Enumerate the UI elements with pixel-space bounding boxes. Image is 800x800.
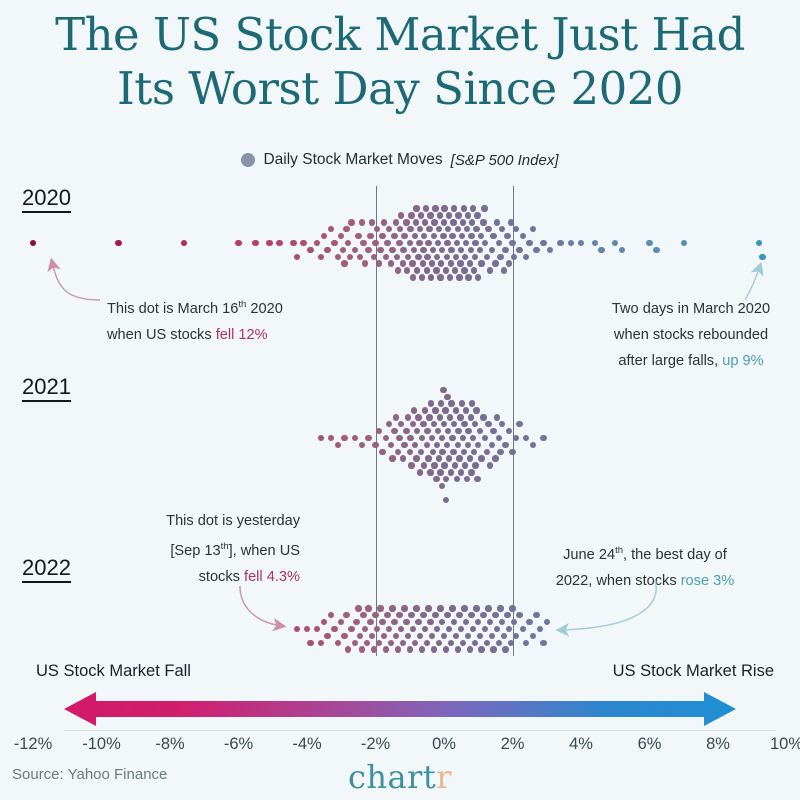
data-dot bbox=[410, 274, 416, 280]
data-dot bbox=[533, 612, 539, 618]
data-dot bbox=[502, 646, 508, 652]
data-dot bbox=[501, 633, 507, 639]
data-dot bbox=[388, 260, 394, 266]
data-dot bbox=[340, 247, 346, 253]
axis-tick-neg6pct: -6% bbox=[224, 735, 253, 754]
data-dot bbox=[379, 619, 385, 625]
data-dot bbox=[462, 462, 468, 468]
annotation-march-2020-rebound: Two days in March 2020 when stocks rebou… bbox=[596, 296, 786, 374]
data-dot bbox=[449, 233, 455, 239]
data-dot bbox=[490, 233, 496, 239]
data-dot bbox=[441, 633, 447, 639]
data-dot bbox=[520, 233, 526, 239]
axis-tick-6pct: 6% bbox=[638, 735, 662, 754]
data-dot bbox=[345, 240, 351, 246]
annotation-march-16-2020: This dot is March 16th 2020 when US stoc… bbox=[107, 292, 283, 348]
data-dot bbox=[415, 414, 421, 420]
data-dot bbox=[509, 449, 515, 455]
data-dot bbox=[423, 205, 429, 211]
data-dot bbox=[448, 247, 454, 253]
data-dot bbox=[446, 626, 452, 632]
data-dot bbox=[407, 240, 413, 246]
data-dot bbox=[506, 626, 512, 632]
data-dot bbox=[398, 421, 404, 427]
data-dot bbox=[413, 455, 419, 461]
data-dot bbox=[455, 226, 461, 232]
data-dot bbox=[502, 442, 508, 448]
data-dot bbox=[372, 240, 378, 246]
data-dot bbox=[455, 212, 461, 218]
data-dot bbox=[497, 254, 503, 260]
data-dot bbox=[513, 226, 519, 232]
data-dot bbox=[511, 619, 517, 625]
data-dot bbox=[376, 640, 382, 646]
data-dot bbox=[494, 626, 500, 632]
data-dot bbox=[405, 414, 411, 420]
data-dot bbox=[439, 483, 445, 489]
data-dot bbox=[473, 605, 479, 611]
data-dot bbox=[338, 619, 344, 625]
data-dot bbox=[335, 640, 341, 646]
data-dot bbox=[396, 612, 402, 618]
data-dot bbox=[181, 240, 187, 246]
data-dot bbox=[314, 626, 320, 632]
data-dot bbox=[452, 267, 458, 273]
data-dot bbox=[396, 240, 402, 246]
data-dot bbox=[457, 260, 463, 266]
data-dot bbox=[408, 462, 414, 468]
data-dot bbox=[400, 260, 406, 266]
data-dot bbox=[391, 619, 397, 625]
annotation-highlight: up 9% bbox=[722, 353, 763, 369]
data-dot bbox=[508, 219, 514, 225]
data-dot bbox=[523, 435, 529, 441]
data-dot bbox=[443, 497, 449, 503]
data-dot bbox=[492, 612, 498, 618]
annotation-line: stocks fell 4.3% bbox=[140, 564, 300, 590]
data-dot bbox=[433, 267, 439, 273]
data-dot bbox=[400, 640, 406, 646]
data-dot bbox=[460, 640, 466, 646]
data-dot bbox=[290, 240, 296, 246]
axis-tick-4pct: 4% bbox=[569, 735, 593, 754]
annotation-highlight: fell 4.3% bbox=[244, 569, 300, 585]
data-dot bbox=[412, 442, 418, 448]
data-dot bbox=[468, 612, 474, 618]
chartr-logo-accent: r bbox=[436, 758, 452, 796]
data-dot bbox=[294, 254, 300, 260]
year-label-2021: 2021 bbox=[22, 375, 71, 402]
data-dot bbox=[395, 267, 401, 273]
data-dot bbox=[383, 254, 389, 260]
data-dot bbox=[516, 421, 522, 427]
data-dot bbox=[438, 260, 444, 266]
data-dot bbox=[472, 640, 478, 646]
annotation-line: This dot is yesterday bbox=[140, 508, 300, 534]
data-dot bbox=[318, 254, 324, 260]
data-dot bbox=[362, 260, 368, 266]
data-dot bbox=[477, 428, 483, 434]
year-label-2022: 2022 bbox=[22, 556, 71, 583]
legend-sublabel: [S&P 500 Index] bbox=[451, 152, 559, 169]
data-dot bbox=[430, 449, 436, 455]
legend: Daily Stock Market Moves [S&P 500 Index] bbox=[0, 151, 800, 169]
annotation-line: when stocks rebounded bbox=[596, 322, 786, 348]
data-dot bbox=[400, 247, 406, 253]
data-dot bbox=[504, 233, 510, 239]
data-dot bbox=[407, 646, 413, 652]
data-dot bbox=[459, 233, 465, 239]
data-dot bbox=[393, 219, 399, 225]
data-dot bbox=[465, 212, 471, 218]
data-dot bbox=[450, 449, 456, 455]
data-dot bbox=[489, 442, 495, 448]
data-dot bbox=[490, 646, 496, 652]
data-dot bbox=[421, 462, 427, 468]
data-dot bbox=[482, 626, 488, 632]
data-dot bbox=[367, 619, 373, 625]
data-dot bbox=[474, 476, 480, 482]
data-dot bbox=[300, 240, 306, 246]
data-dot bbox=[362, 626, 368, 632]
gridline--2pct bbox=[376, 186, 377, 656]
data-dot bbox=[447, 274, 453, 280]
data-dot bbox=[328, 226, 334, 232]
data-dot bbox=[444, 442, 450, 448]
data-dot bbox=[400, 455, 406, 461]
data-dot bbox=[440, 387, 446, 393]
data-dot bbox=[501, 267, 507, 273]
year-label-2020: 2020 bbox=[22, 186, 71, 213]
data-dot bbox=[484, 640, 490, 646]
data-dot bbox=[383, 646, 389, 652]
data-dot bbox=[396, 435, 402, 441]
data-dot bbox=[371, 646, 377, 652]
data-dot bbox=[465, 442, 471, 448]
data-dot bbox=[460, 219, 466, 225]
data-dot bbox=[475, 274, 481, 280]
data-dot bbox=[307, 247, 313, 253]
annotation-line: June 24th, the best day of bbox=[540, 538, 750, 568]
data-dot bbox=[481, 205, 487, 211]
data-dot bbox=[359, 442, 365, 448]
data-dot bbox=[598, 247, 604, 253]
data-dot bbox=[318, 640, 324, 646]
data-dot bbox=[487, 267, 493, 273]
data-dot bbox=[478, 455, 484, 461]
data-dot bbox=[478, 646, 484, 652]
data-dot bbox=[469, 219, 475, 225]
data-dot bbox=[424, 640, 430, 646]
axis-caption-rise: US Stock Market Rise bbox=[613, 662, 774, 681]
data-dot bbox=[365, 435, 371, 441]
data-dot bbox=[458, 626, 464, 632]
axis-caption-fall: US Stock Market Fall bbox=[36, 662, 191, 681]
data-dot bbox=[458, 469, 464, 475]
axis-gradient-arrow bbox=[0, 688, 800, 730]
data-dot bbox=[401, 233, 407, 239]
data-dot bbox=[369, 633, 375, 639]
data-dot bbox=[496, 640, 502, 646]
data-dot bbox=[376, 260, 382, 266]
data-dot bbox=[452, 462, 458, 468]
data-dot bbox=[393, 414, 399, 420]
page-title-line1: The US Stock Market Just Had bbox=[0, 8, 800, 62]
data-dot bbox=[405, 254, 411, 260]
data-dot bbox=[441, 219, 447, 225]
data-dot bbox=[441, 421, 447, 427]
data-dot bbox=[386, 226, 392, 232]
data-dot bbox=[520, 626, 526, 632]
data-dot bbox=[276, 240, 282, 246]
data-dot bbox=[360, 612, 366, 618]
title-block: The US Stock Market Just Had Its Worst D… bbox=[0, 8, 800, 116]
data-dot bbox=[386, 626, 392, 632]
data-dot bbox=[508, 640, 514, 646]
data-dot bbox=[487, 619, 493, 625]
data-dot bbox=[653, 247, 659, 253]
data-dot bbox=[499, 421, 505, 427]
data-dot bbox=[403, 219, 409, 225]
data-dot bbox=[485, 226, 491, 232]
data-dot bbox=[578, 240, 584, 246]
data-dot bbox=[492, 455, 498, 461]
data-dot bbox=[544, 619, 550, 625]
data-dot bbox=[341, 260, 347, 266]
data-dot bbox=[408, 212, 414, 218]
data-dot bbox=[353, 619, 359, 625]
data-dot bbox=[557, 240, 563, 246]
legend-label: Daily Stock Market Moves bbox=[263, 151, 442, 169]
data-dot bbox=[416, 240, 422, 246]
data-dot bbox=[374, 626, 380, 632]
data-dot bbox=[427, 619, 433, 625]
data-dot bbox=[445, 428, 451, 434]
data-dot bbox=[533, 247, 539, 253]
data-dot bbox=[448, 260, 454, 266]
data-dot bbox=[437, 605, 443, 611]
data-dot bbox=[409, 260, 415, 266]
data-dot bbox=[328, 435, 334, 441]
data-dot bbox=[455, 646, 461, 652]
data-dot bbox=[438, 400, 444, 406]
data-dot bbox=[444, 254, 450, 260]
data-dot bbox=[404, 267, 410, 273]
data-dot bbox=[456, 274, 462, 280]
data-dot bbox=[376, 428, 382, 434]
data-dot bbox=[389, 455, 395, 461]
data-dot bbox=[458, 247, 464, 253]
data-dot bbox=[426, 226, 432, 232]
data-dot bbox=[470, 626, 476, 632]
data-dot bbox=[393, 633, 399, 639]
data-dot bbox=[439, 619, 445, 625]
data-dot bbox=[401, 605, 407, 611]
data-dot bbox=[439, 449, 445, 455]
gridline-2pct bbox=[513, 186, 514, 656]
data-dot bbox=[328, 612, 334, 618]
data-dot bbox=[419, 274, 425, 280]
infographic-root: The US Stock Market Just Had Its Worst D… bbox=[0, 0, 800, 800]
axis-tick-neg10pct: -10% bbox=[82, 735, 121, 754]
data-dot bbox=[487, 462, 493, 468]
data-dot bbox=[443, 476, 449, 482]
data-dot bbox=[480, 219, 486, 225]
data-dot bbox=[568, 240, 574, 246]
data-dot bbox=[492, 260, 498, 266]
data-dot bbox=[513, 435, 519, 441]
annotation-line: after large falls, up 9% bbox=[596, 348, 786, 374]
data-dot bbox=[432, 205, 438, 211]
data-dot bbox=[442, 407, 448, 413]
data-dot bbox=[424, 254, 430, 260]
data-dot bbox=[454, 240, 460, 246]
data-dot bbox=[465, 274, 471, 280]
data-dot bbox=[482, 435, 488, 441]
data-dot bbox=[372, 442, 378, 448]
data-dot bbox=[115, 240, 121, 246]
axis-tick-0pct: 0% bbox=[432, 735, 456, 754]
data-dot bbox=[424, 442, 430, 448]
data-dot bbox=[619, 247, 625, 253]
data-dot bbox=[359, 646, 365, 652]
annotation-june-24-2022: June 24th, the best day of 2022, when st… bbox=[540, 538, 750, 594]
data-dot bbox=[331, 626, 337, 632]
data-dot bbox=[467, 260, 473, 266]
data-dot bbox=[412, 640, 418, 646]
data-dot bbox=[425, 455, 431, 461]
data-dot bbox=[502, 247, 508, 253]
data-dot bbox=[321, 233, 327, 239]
data-dot bbox=[475, 619, 481, 625]
data-dot bbox=[436, 640, 442, 646]
data-dot bbox=[473, 407, 479, 413]
data-dot bbox=[485, 605, 491, 611]
data-dot bbox=[490, 428, 496, 434]
data-dot bbox=[425, 240, 431, 246]
data-dot bbox=[386, 421, 392, 427]
data-dot bbox=[314, 240, 320, 246]
data-dot bbox=[473, 226, 479, 232]
data-dot bbox=[389, 605, 395, 611]
data-dot bbox=[407, 226, 413, 232]
data-dot bbox=[410, 421, 416, 427]
data-dot bbox=[463, 240, 469, 246]
data-dot bbox=[447, 414, 453, 420]
data-dot bbox=[410, 626, 416, 632]
data-dot bbox=[371, 254, 377, 260]
data-dot bbox=[352, 435, 358, 441]
data-dot bbox=[444, 612, 450, 618]
data-dot bbox=[427, 212, 433, 218]
data-dot bbox=[352, 640, 358, 646]
data-dot bbox=[401, 442, 407, 448]
data-dot bbox=[478, 233, 484, 239]
data-dot bbox=[359, 219, 365, 225]
data-dot bbox=[513, 633, 519, 639]
data-dot bbox=[540, 435, 546, 441]
annotation-highlight: rose 3% bbox=[681, 573, 735, 589]
data-dot bbox=[448, 469, 454, 475]
data-dot bbox=[480, 612, 486, 618]
data-dot bbox=[420, 421, 426, 427]
data-dot bbox=[398, 212, 404, 218]
data-dot bbox=[453, 254, 459, 260]
data-dot bbox=[472, 421, 478, 427]
data-dot bbox=[437, 469, 443, 475]
data-dot bbox=[540, 240, 546, 246]
data-dot bbox=[428, 400, 434, 406]
data-dot bbox=[403, 619, 409, 625]
data-dot bbox=[407, 449, 413, 455]
data-dot bbox=[475, 442, 481, 448]
data-dot bbox=[461, 449, 467, 455]
data-dot bbox=[413, 219, 419, 225]
data-dot bbox=[468, 247, 474, 253]
data-dot bbox=[446, 212, 452, 218]
data-dot bbox=[509, 605, 515, 611]
data-dot bbox=[448, 400, 454, 406]
data-dot bbox=[449, 605, 455, 611]
data-dot bbox=[465, 633, 471, 639]
data-dot bbox=[455, 442, 461, 448]
data-dot bbox=[384, 612, 390, 618]
data-dot bbox=[252, 240, 258, 246]
data-dot bbox=[441, 462, 447, 468]
annotation-line: when US stocks fell 12% bbox=[107, 322, 283, 348]
chartr-logo-main: chart bbox=[348, 758, 436, 796]
axis-tick-2pct: 2% bbox=[501, 735, 525, 754]
data-dot bbox=[364, 640, 370, 646]
data-dot bbox=[331, 240, 337, 246]
data-dot bbox=[461, 421, 467, 427]
data-dot bbox=[499, 226, 505, 232]
data-dot bbox=[417, 633, 423, 639]
data-dot bbox=[437, 212, 443, 218]
data-dot bbox=[394, 254, 400, 260]
data-dot bbox=[415, 619, 421, 625]
data-dot bbox=[420, 247, 426, 253]
annotation-line: 2022, when stocks rose 3% bbox=[540, 568, 750, 594]
data-dot bbox=[431, 421, 437, 427]
data-dot bbox=[461, 267, 467, 273]
data-dot bbox=[407, 435, 413, 441]
data-dot bbox=[445, 226, 451, 232]
data-dot bbox=[377, 247, 383, 253]
data-dot bbox=[681, 240, 687, 246]
data-dot bbox=[352, 247, 358, 253]
data-dot bbox=[381, 219, 387, 225]
data-dot bbox=[506, 428, 512, 434]
data-dot bbox=[523, 254, 529, 260]
data-dot bbox=[468, 233, 474, 239]
data-dot bbox=[425, 605, 431, 611]
data-dot bbox=[484, 449, 490, 455]
data-dot bbox=[443, 646, 449, 652]
data-dot bbox=[430, 247, 436, 253]
data-dot bbox=[467, 646, 473, 652]
data-dot bbox=[379, 449, 385, 455]
data-dot bbox=[477, 633, 483, 639]
data-dot bbox=[499, 619, 505, 625]
data-dot bbox=[459, 400, 465, 406]
data-dot bbox=[462, 254, 468, 260]
data-dot bbox=[341, 633, 347, 639]
data-dot bbox=[374, 226, 380, 232]
data-dot bbox=[432, 612, 438, 618]
axis-tick-10pct: 10% bbox=[770, 735, 800, 754]
data-dot bbox=[443, 267, 449, 273]
